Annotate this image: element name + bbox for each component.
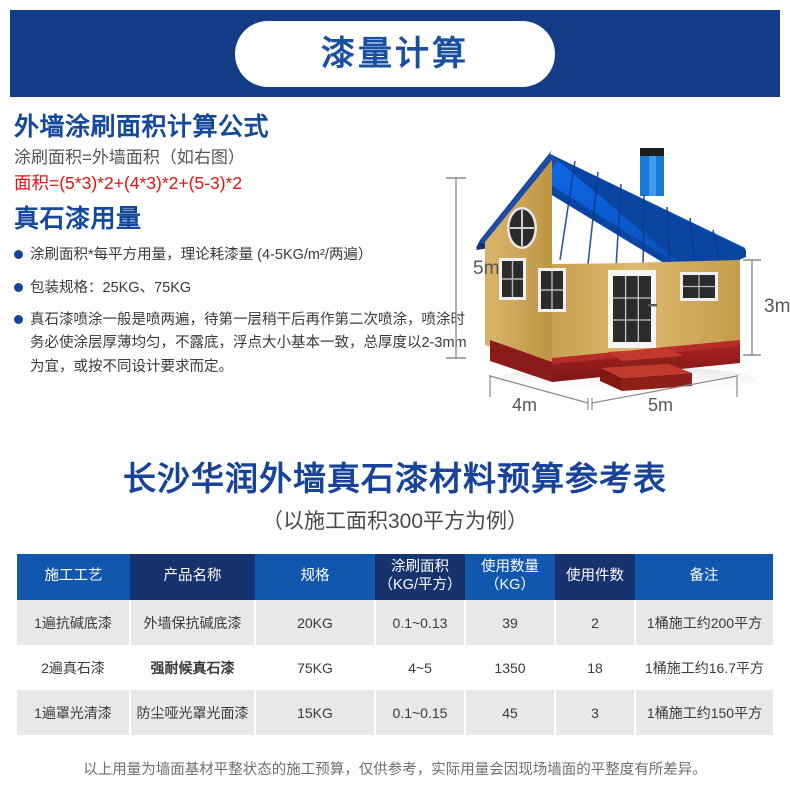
column-header-spec: 规格	[255, 554, 375, 600]
house-diagram: 5m 3m 4m 5m	[440, 130, 790, 430]
table-row: 2遍真石漆 强耐候真石漆 75KG 4~5 1350 18 1桶施工约16.7平…	[17, 645, 773, 690]
bullet-dot-icon	[14, 283, 23, 292]
list-item: 包装规格：25KG、75KG	[14, 277, 474, 300]
cell-coverage: 0.1~0.13	[375, 600, 465, 645]
dimension-label-left: 5m	[473, 258, 499, 279]
column-header-pieces: 使用件数	[555, 554, 635, 600]
table-header-row: 施工工艺 产品名称 规格 涂刷面积 （KG/平方） 使用数量 （KG） 使用件数…	[17, 554, 773, 600]
cell-amount: 1350	[465, 645, 555, 690]
cell-process: 1遍罩光清漆	[17, 690, 130, 735]
cell-process: 1遍抗碱底漆	[17, 600, 130, 645]
table-footnote: 以上用量为墙面基材平整状态的施工预算，仅供参考，实际用量会因现场墙面的平整度有所…	[0, 758, 790, 779]
info-column: 外墙涂刷面积计算公式 涂刷面积=外墙面积（如右图） 面积=(5*3)*2+(4*…	[14, 112, 474, 388]
header-banner: 漆量计算	[10, 10, 780, 97]
column-header-process: 施工工艺	[17, 554, 130, 600]
bullet-dot-icon	[14, 250, 23, 259]
list-item: 真石漆喷涂一般是喷两遍，待第一层稍干后再作第二次喷涂，喷涂时务必使涂层厚薄均匀，…	[14, 309, 474, 379]
formula-heading: 外墙涂刷面积计算公式	[14, 112, 474, 142]
formula-line-1: 涂刷面积=外墙面积（如右图）	[14, 146, 474, 171]
cell-remark: 1桶施工约16.7平方	[635, 645, 773, 690]
cell-remark: 1桶施工约200平方	[635, 600, 773, 645]
table-section-subtitle: （以施工面积300平方为例）	[0, 505, 790, 535]
cell-product: 外墙保抗碱底漆	[130, 600, 255, 645]
formula-line-2: 面积=(5*3)*2+(4*3)*2+(5-3)*2	[14, 171, 474, 196]
cell-pieces: 3	[555, 690, 635, 735]
cell-spec: 75KG	[255, 645, 375, 690]
dimension-label-bottom-left: 4m	[512, 395, 537, 415]
dimension-label-bottom-right: 5m	[648, 395, 673, 415]
attic-vent-window	[507, 207, 537, 249]
cell-spec: 15KG	[255, 690, 375, 735]
table-row: 1遍罩光清漆 防尘哑光罩光面漆 15KG 0.1~0.15 45 3 1桶施工约…	[17, 690, 773, 735]
cell-coverage: 0.1~0.15	[375, 690, 465, 735]
column-header-product: 产品名称	[130, 554, 255, 600]
window-left-1	[499, 258, 526, 300]
bullet-text: 包装规格：25KG、75KG	[30, 277, 191, 300]
cell-pieces: 18	[555, 645, 635, 690]
usage-heading: 真石漆用量	[14, 204, 474, 234]
column-header-coverage-line2: （KG/平方）	[377, 577, 463, 595]
cell-amount: 45	[465, 690, 555, 735]
dimension-right-height	[743, 260, 761, 355]
table-row: 1遍抗碱底漆 外墙保抗碱底漆 20KG 0.1~0.13 39 2 1桶施工约2…	[17, 600, 773, 645]
column-header-amount: 使用数量 （KG）	[465, 554, 555, 600]
cell-amount: 39	[465, 600, 555, 645]
cell-product: 强耐候真石漆	[130, 645, 255, 690]
bullet-text: 真石漆喷涂一般是喷两遍，待第一层稍干后再作第二次喷涂，喷涂时务必使涂层厚薄均匀，…	[30, 309, 474, 379]
column-header-coverage: 涂刷面积 （KG/平方）	[375, 554, 465, 600]
front-steps	[600, 348, 692, 391]
table-section-title: 长沙华润外墙真石漆材料预算参考表	[0, 452, 790, 500]
cell-product: 防尘哑光罩光面漆	[130, 690, 255, 735]
list-item: 涂刷面积*每平方用量，理论耗漆量 (4-5KG/m²/两遍）	[14, 244, 474, 267]
dimension-label-right: 3m	[764, 296, 790, 317]
column-header-coverage-line1: 涂刷面积	[377, 559, 463, 577]
bullet-dot-icon	[14, 315, 23, 324]
window-front-right	[680, 272, 718, 301]
column-header-remark: 备注	[635, 554, 773, 600]
window-left-2	[538, 268, 566, 312]
budget-table: 施工工艺 产品名称 规格 涂刷面积 （KG/平方） 使用数量 （KG） 使用件数…	[17, 554, 773, 735]
page-title: 漆量计算	[321, 37, 469, 71]
front-door	[608, 270, 657, 348]
cell-coverage: 4~5	[375, 645, 465, 690]
chimney	[640, 148, 664, 196]
column-header-amount-line2: （KG）	[467, 577, 553, 595]
dimension-left-height	[446, 178, 466, 358]
budget-table-wrapper: 施工工艺 产品名称 规格 涂刷面积 （KG/平方） 使用数量 （KG） 使用件数…	[17, 554, 773, 735]
bullet-text: 涂刷面积*每平方用量，理论耗漆量 (4-5KG/m²/两遍）	[30, 244, 372, 267]
house-illustration-svg: 5m 3m 4m 5m	[440, 130, 790, 430]
usage-bullet-list: 涂刷面积*每平方用量，理论耗漆量 (4-5KG/m²/两遍） 包装规格：25KG…	[14, 244, 474, 379]
cell-spec: 20KG	[255, 600, 375, 645]
column-header-amount-line1: 使用数量	[467, 559, 553, 577]
cell-pieces: 2	[555, 600, 635, 645]
cell-remark: 1桶施工约150平方	[635, 690, 773, 735]
header-title-pill: 漆量计算	[235, 21, 555, 87]
cell-process: 2遍真石漆	[17, 645, 130, 690]
